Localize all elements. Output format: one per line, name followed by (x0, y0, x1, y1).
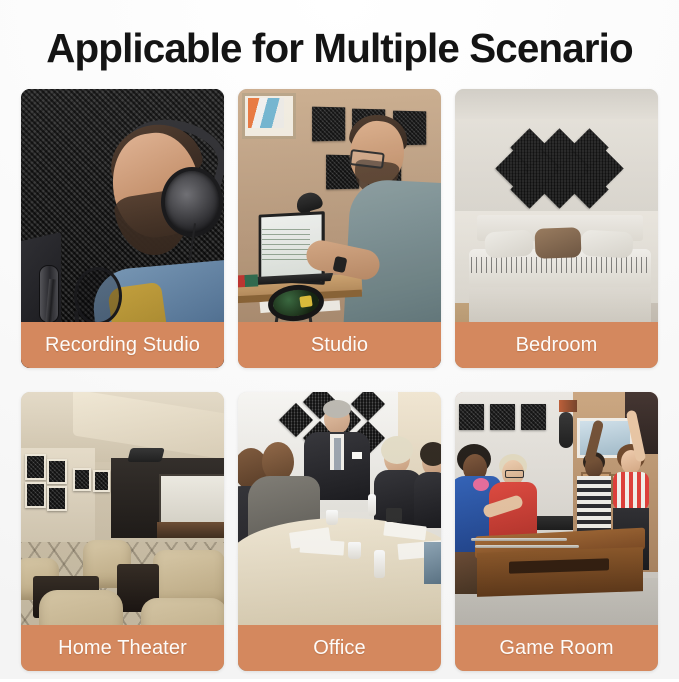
person-top (613, 472, 649, 510)
caption-game-room: Game Room (455, 625, 658, 671)
acoustic-panel (73, 468, 91, 491)
ceiling-projector (127, 448, 164, 462)
acoustic-panel (312, 107, 345, 142)
acoustic-panel-group (25, 454, 101, 512)
acoustic-panel (47, 486, 67, 511)
laptop (424, 542, 441, 584)
acoustic-panel (93, 470, 110, 492)
projection-screen (159, 474, 224, 528)
water-bottle (374, 550, 385, 578)
water-bottle (368, 494, 376, 516)
media-console (157, 522, 224, 538)
acoustic-panel-group (495, 133, 625, 207)
pocket-square (352, 452, 362, 459)
scenario-card-studio[interactable]: Studio (238, 89, 441, 368)
coffee-cup (326, 510, 338, 525)
foosball-rod (475, 545, 579, 548)
wall-art (248, 98, 284, 128)
ceiling (455, 89, 658, 119)
caption-bedroom: Bedroom (455, 322, 658, 368)
poster-canvas: Applicable for Multiple Scenario (0, 0, 679, 679)
caption-recording-studio: Recording Studio (21, 322, 224, 368)
pop-filter (74, 267, 122, 325)
acoustic-panel (25, 454, 46, 480)
caption-office: Office (238, 625, 441, 671)
person-suit (414, 472, 441, 528)
desk-books (238, 274, 258, 287)
bed-pillow (580, 230, 633, 259)
acoustic-panel (490, 404, 515, 430)
bed-pillow (484, 229, 534, 258)
acoustic-panel (459, 404, 484, 430)
person-hair (381, 436, 413, 464)
foosball-table-body (477, 547, 643, 597)
person-tie (334, 438, 341, 470)
acoustic-panel (25, 482, 46, 508)
person-hair (420, 442, 441, 466)
scenario-card-home-theater[interactable]: Home Theater (21, 392, 224, 671)
acoustic-panel-group (459, 404, 547, 434)
scenario-grid: Recording Studio (21, 89, 658, 682)
pen-holder (386, 508, 402, 522)
scenario-card-office[interactable]: Office (238, 392, 441, 671)
coffee-cup (348, 542, 361, 559)
person-hair (323, 400, 351, 418)
acoustic-panel (47, 459, 67, 484)
scenario-card-game-room[interactable]: Game Room (455, 392, 658, 671)
document (300, 538, 345, 555)
caption-studio: Studio (238, 322, 441, 368)
bed-blanket (471, 257, 649, 273)
headphone-accent (299, 295, 312, 308)
glasses (505, 470, 524, 478)
page-title: Applicable for Multiple Scenario (5, 22, 674, 74)
caption-home-theater: Home Theater (21, 625, 224, 671)
headphone-earcup (161, 167, 223, 237)
scenario-card-bedroom[interactable]: Bedroom (455, 89, 658, 368)
scenario-card-recording-studio[interactable]: Recording Studio (21, 89, 224, 368)
wall-shelf (559, 400, 577, 412)
bed-accent-pillow (534, 227, 581, 259)
laptop-screen-content (262, 229, 310, 263)
foosball-rod (471, 538, 567, 541)
headphones (473, 478, 489, 491)
skateboard (559, 412, 573, 448)
acoustic-panel (521, 404, 546, 430)
